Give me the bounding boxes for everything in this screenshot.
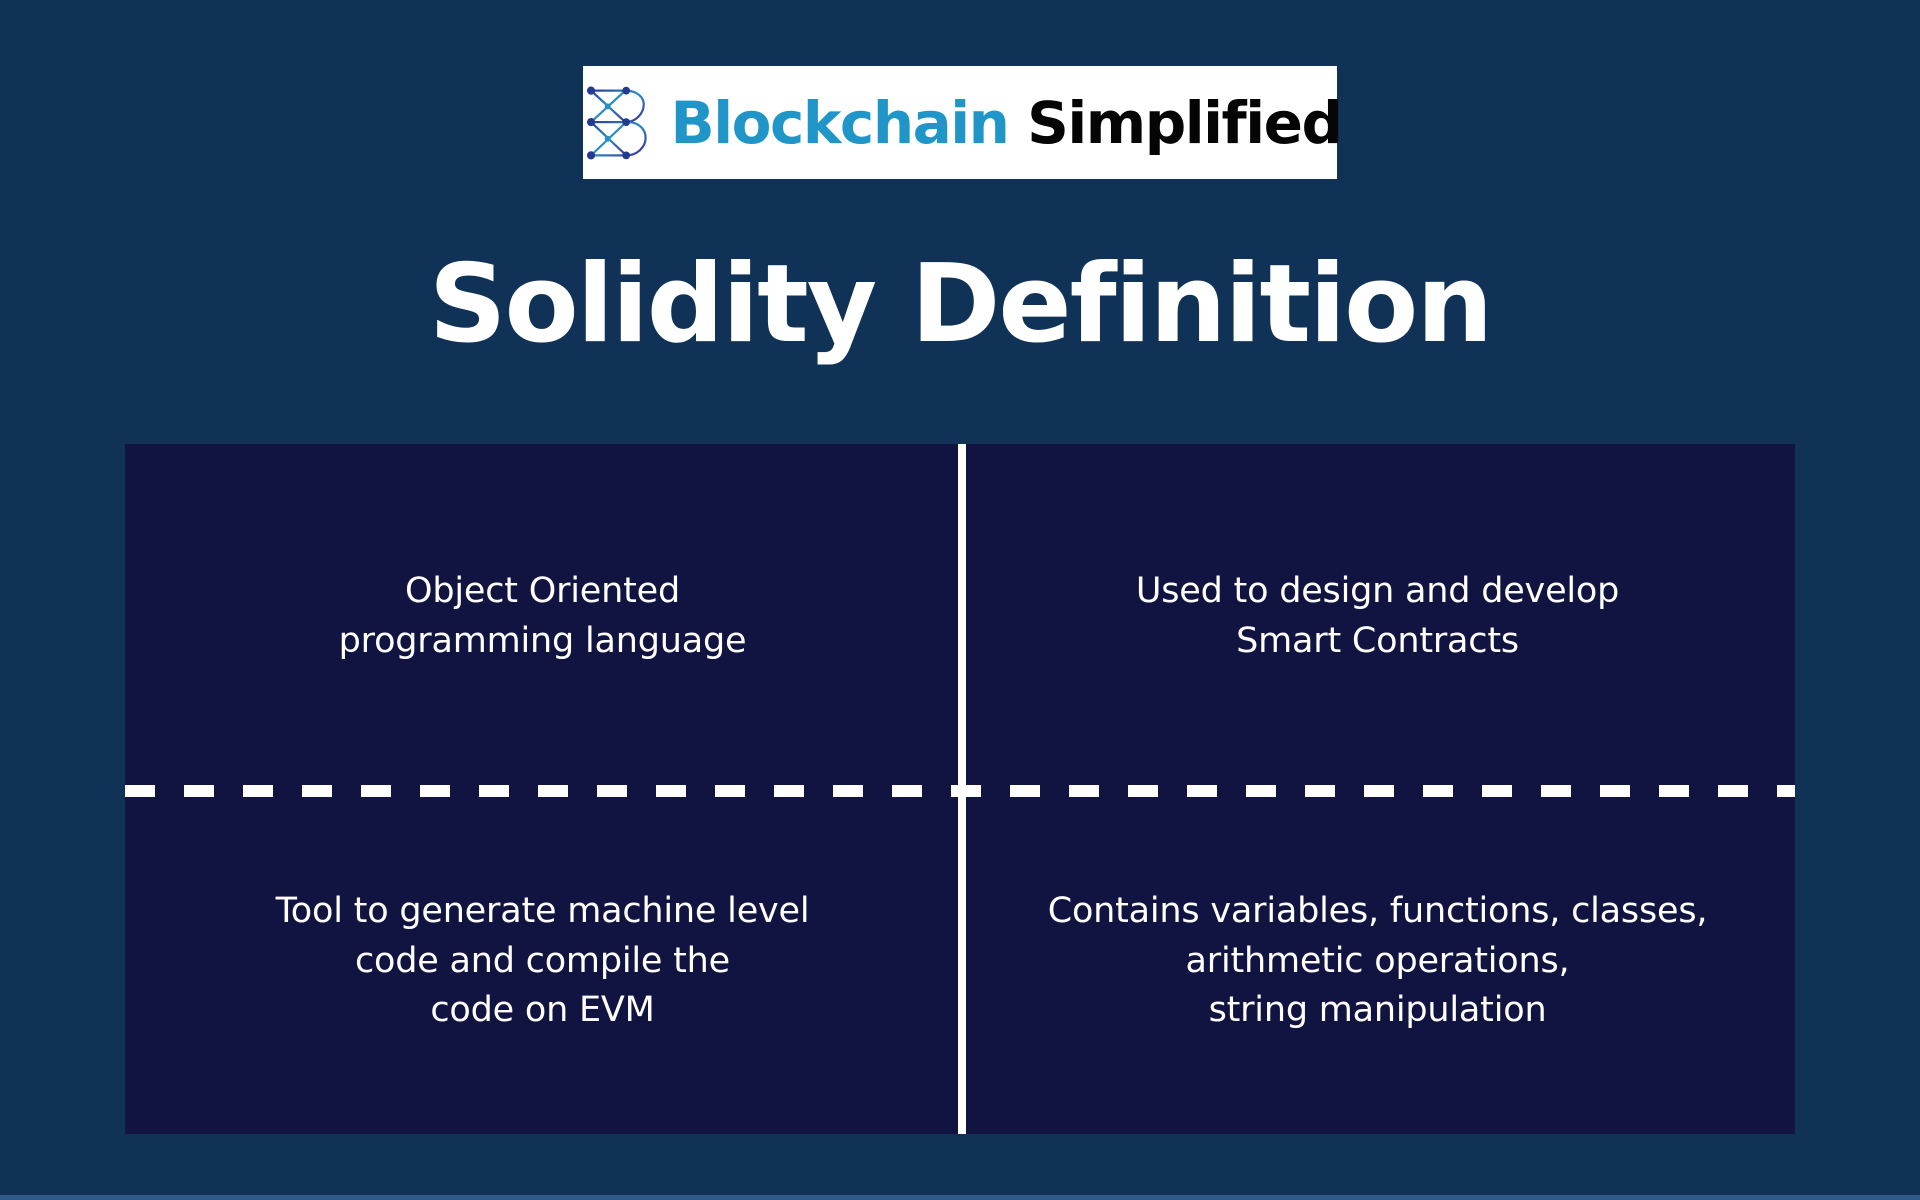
quadrant-top-right-text: Used to design and develop Smart Contrac… [1136,567,1619,666]
quadrant-bottom-right-text: Contains variables, functions, classes, … [1048,887,1708,1036]
horizontal-dashed-divider [125,785,1795,797]
page-title: Solidity Definition [0,248,1920,361]
quadrant-bottom-right: Contains variables, functions, classes, … [960,789,1795,1134]
quadrant-bottom-left-text: Tool to generate machine level code and … [276,887,810,1036]
quadrant-top-right: Used to design and develop Smart Contrac… [960,444,1795,789]
brand-logo: Blockchain Simplified [583,66,1337,179]
quadrant-bottom-left: Tool to generate machine level code and … [125,789,960,1134]
definition-panel: Object Oriented programming language Use… [125,444,1795,1134]
blockchain-network-b-icon [579,84,653,162]
quadrant-top-left-text: Object Oriented programming language [339,567,747,666]
bottom-rule [0,1195,1920,1200]
brand-word-simplified: Simplified [1027,89,1341,157]
brand-wordmark: Blockchain Simplified [671,94,1342,152]
quadrant-top-left: Object Oriented programming language [125,444,960,789]
brand-word-blockchain: Blockchain [671,89,1009,157]
